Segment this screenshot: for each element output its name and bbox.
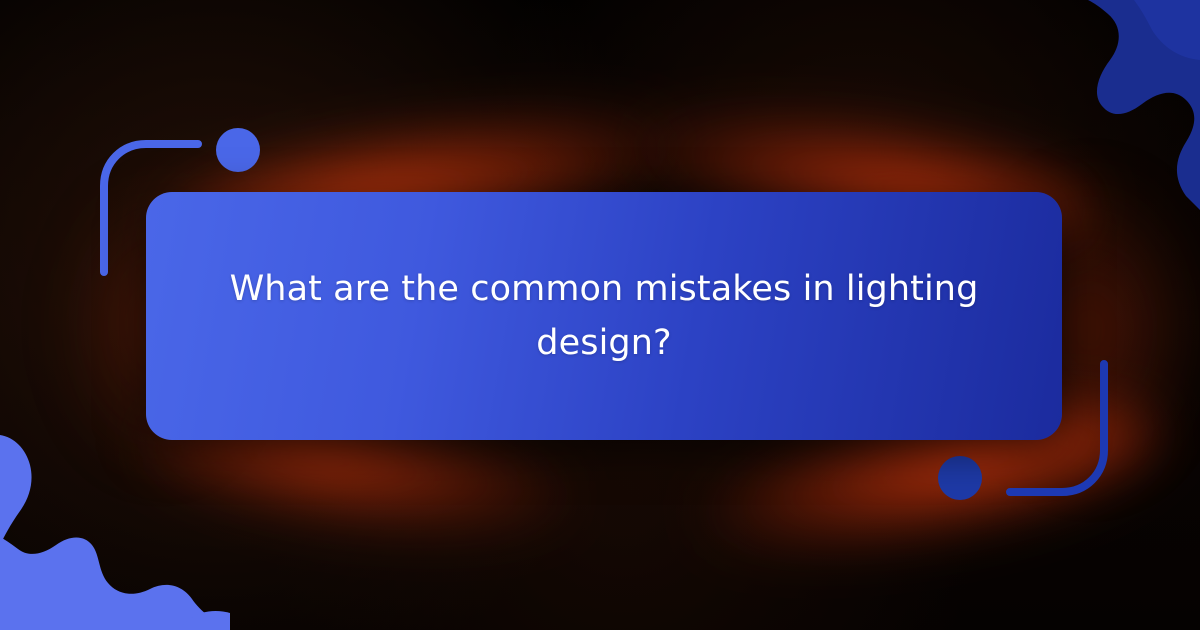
- accent-dot-bottom: [938, 456, 982, 500]
- accent-dot-top: [216, 128, 260, 172]
- question-text: What are the common mistakes in lighting…: [224, 262, 984, 371]
- question-card-graphic: What are the common mistakes in lighting…: [0, 0, 1200, 630]
- question-card: What are the common mistakes in lighting…: [146, 192, 1062, 440]
